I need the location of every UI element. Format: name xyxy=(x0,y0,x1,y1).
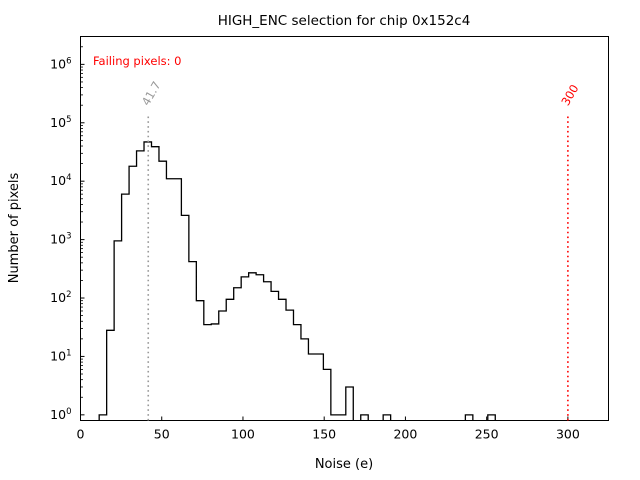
x-tick-label: 200 xyxy=(393,427,417,442)
histogram-outline xyxy=(99,142,495,421)
page-title: HIGH_ENC selection for chip 0x152c4 xyxy=(218,13,471,29)
figure-canvas: HIGH_ENC selection for chip 0x152c4 1001… xyxy=(0,0,640,480)
x-tick-label: 50 xyxy=(154,427,170,442)
y-tick-label: 100 xyxy=(50,407,71,422)
failing-pixels-annotation: Failing pixels: 0 xyxy=(93,54,182,68)
x-tick-label: 250 xyxy=(475,427,499,442)
x-tick-label: 150 xyxy=(312,427,336,442)
vline-label-cut: 300 xyxy=(558,82,581,108)
y-tick-label: 103 xyxy=(50,232,71,247)
histogram-plot: HIGH_ENC selection for chip 0x152c4 1001… xyxy=(0,0,640,480)
vline-label-mean: 41.7 xyxy=(139,79,164,108)
vertical-marker-lines: 41.7300 xyxy=(139,79,582,421)
x-axis-label: Noise (e) xyxy=(315,457,373,472)
y-tick-label: 101 xyxy=(50,348,71,363)
y-tick-label: 102 xyxy=(50,290,71,305)
y-tick-label: 106 xyxy=(50,56,71,71)
histogram-steps xyxy=(99,142,495,421)
y-axis-ticks: 100101102103104105106 xyxy=(50,37,84,422)
y-tick-label: 105 xyxy=(50,115,71,130)
x-tick-label: 300 xyxy=(556,427,580,442)
x-tick-label: 0 xyxy=(77,427,85,442)
plot-frame xyxy=(81,37,609,421)
y-tick-label: 104 xyxy=(50,173,71,188)
y-axis-label: Number of pixels xyxy=(7,172,22,283)
x-tick-label: 100 xyxy=(231,427,255,442)
